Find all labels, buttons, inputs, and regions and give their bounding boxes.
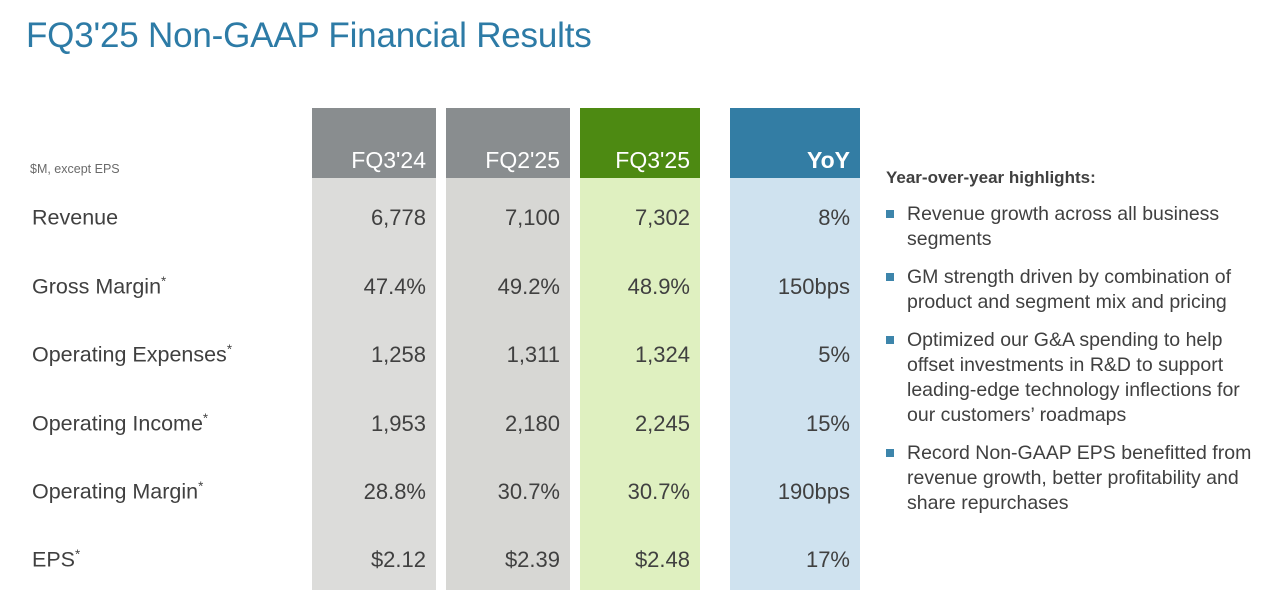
cell-gross-margin-fq3-25: 48.9% — [580, 274, 690, 300]
table-row: Revenue 6,778 7,100 7,302 8% — [30, 184, 860, 252]
cell-operating-margin-fq2-25: 30.7% — [446, 479, 560, 505]
column-header-label: FQ2'25 — [485, 147, 560, 174]
column-header-cell: FQ3'24 — [312, 108, 436, 178]
list-item: Record Non-GAAP EPS benefitted from reve… — [886, 441, 1258, 516]
column-header-label: FQ3'25 — [615, 147, 690, 174]
square-bullet-icon — [886, 336, 894, 344]
cell-gross-margin-yoy: 150bps — [730, 274, 850, 300]
cell-operating-expenses-yoy: 5% — [730, 342, 850, 368]
row-label-revenue: Revenue — [32, 206, 118, 231]
cell-operating-expenses-fq3-24: 1,258 — [312, 342, 426, 368]
cell-eps-fq2-25: $2.39 — [446, 547, 560, 573]
square-bullet-icon — [886, 273, 894, 281]
cell-eps-yoy: 17% — [730, 547, 850, 573]
cell-eps-fq3-25: $2.48 — [580, 547, 690, 573]
column-header-cell: YoY — [730, 108, 860, 178]
row-label-operating-margin: Operating Margin* — [32, 480, 203, 505]
bullet-text: Record Non-GAAP EPS benefitted from reve… — [907, 441, 1258, 516]
bullet-text: Optimized our G&A spending to help offse… — [907, 328, 1258, 428]
cell-revenue-fq2-25: 7,100 — [446, 205, 560, 231]
row-label-gross-margin: Gross Margin* — [32, 275, 166, 300]
table-row: Gross Margin* 47.4% 49.2% 48.9% 150bps — [30, 253, 860, 321]
row-label-operating-income: Operating Income* — [32, 412, 208, 437]
list-item: Revenue growth across all business segme… — [886, 202, 1258, 252]
cell-gross-margin-fq2-25: 49.2% — [446, 274, 560, 300]
financial-results-table: FQ3'24 FQ2'25 FQ3'25 YoY Revenue 6,778 7… — [30, 108, 860, 590]
cell-operating-expenses-fq3-25: 1,324 — [580, 342, 690, 368]
table-row: Operating Income* 1,953 2,180 2,245 15% — [30, 390, 860, 458]
column-header-cell: FQ2'25 — [446, 108, 570, 178]
row-label-eps: EPS* — [32, 548, 80, 573]
highlights-title: Year-over-year highlights: — [886, 168, 1258, 188]
cell-gross-margin-fq3-24: 47.4% — [312, 274, 426, 300]
bullet-text: GM strength driven by combination of pro… — [907, 265, 1258, 315]
cell-operating-income-fq2-25: 2,180 — [446, 411, 560, 437]
list-item: Optimized our G&A spending to help offse… — [886, 328, 1258, 428]
cell-revenue-fq3-25: 7,302 — [580, 205, 690, 231]
cell-operating-margin-fq3-25: 30.7% — [580, 479, 690, 505]
table-row: EPS* $2.12 $2.39 $2.48 17% — [30, 526, 860, 594]
cell-operating-margin-yoy: 190bps — [730, 479, 850, 505]
cell-revenue-fq3-24: 6,778 — [312, 205, 426, 231]
cell-operating-income-fq3-24: 1,953 — [312, 411, 426, 437]
cell-operating-income-fq3-25: 2,245 — [580, 411, 690, 437]
cell-revenue-yoy: 8% — [730, 205, 850, 231]
column-header-cell: FQ3'25 — [580, 108, 700, 178]
row-label-operating-expenses: Operating Expenses* — [32, 343, 232, 368]
cell-operating-margin-fq3-24: 28.8% — [312, 479, 426, 505]
highlights-panel: Year-over-year highlights: Revenue growt… — [886, 168, 1258, 528]
list-item: GM strength driven by combination of pro… — [886, 265, 1258, 315]
column-header-label: YoY — [807, 147, 850, 174]
cell-operating-income-yoy: 15% — [730, 411, 850, 437]
table-row: Operating Margin* 28.8% 30.7% 30.7% 190b… — [30, 458, 860, 526]
table-row: Operating Expenses* 1,258 1,311 1,324 5% — [30, 321, 860, 389]
column-header-label: FQ3'24 — [351, 147, 426, 174]
bullet-text: Revenue growth across all business segme… — [907, 202, 1258, 252]
square-bullet-icon — [886, 210, 894, 218]
page-title: FQ3'25 Non-GAAP Financial Results — [26, 16, 592, 56]
square-bullet-icon — [886, 449, 894, 457]
cell-operating-expenses-fq2-25: 1,311 — [446, 342, 560, 368]
cell-eps-fq3-24: $2.12 — [312, 547, 426, 573]
